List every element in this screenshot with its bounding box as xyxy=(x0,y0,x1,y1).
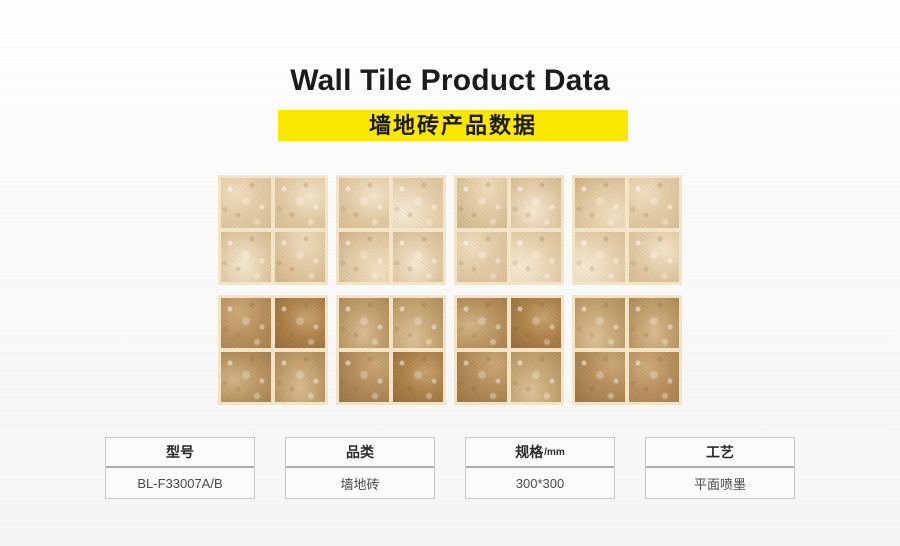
tile-product-image xyxy=(218,295,328,405)
tile-surface-swatch xyxy=(511,178,561,228)
tile-surface-swatch xyxy=(275,178,325,228)
tile-image-gallery xyxy=(218,175,684,407)
tile-product-image xyxy=(454,175,564,285)
tile-product-image xyxy=(336,175,446,285)
tile-surface-swatch xyxy=(457,178,507,228)
tile-surface-swatch xyxy=(575,352,625,402)
tile-surface-swatch xyxy=(221,178,271,228)
tile-surface-swatch xyxy=(575,298,625,348)
tile-surface-swatch xyxy=(575,178,625,228)
spec-header-label: 规格/mm xyxy=(466,438,614,468)
tile-surface-swatch xyxy=(511,352,561,402)
tile-surface-swatch xyxy=(457,352,507,402)
specification-table: 型号BL-F33007A/B品类墙地砖规格/mm300*300工艺平面喷墨 xyxy=(105,437,795,499)
spec-cell: 品类墙地砖 xyxy=(285,437,435,499)
tile-product-image xyxy=(572,175,682,285)
tile-surface-swatch xyxy=(393,178,443,228)
spec-header-unit: /mm xyxy=(544,447,565,458)
tile-surface-swatch xyxy=(511,298,561,348)
tile-product-image xyxy=(218,175,328,285)
spec-value: BL-F33007A/B xyxy=(106,468,254,498)
spec-value: 墙地砖 xyxy=(286,468,434,498)
spec-value: 平面喷墨 xyxy=(646,468,794,498)
tile-surface-swatch xyxy=(339,178,389,228)
spec-header-label: 工艺 xyxy=(646,438,794,468)
tile-surface-swatch xyxy=(575,232,625,282)
tile-product-image xyxy=(336,295,446,405)
spec-cell: 工艺平面喷墨 xyxy=(645,437,795,499)
tile-product-image xyxy=(572,295,682,405)
tile-surface-swatch xyxy=(275,232,325,282)
tile-surface-swatch xyxy=(393,352,443,402)
page-title-english: Wall Tile Product Data xyxy=(0,64,900,98)
spec-cell: 型号BL-F33007A/B xyxy=(105,437,255,499)
tile-surface-swatch xyxy=(221,298,271,348)
tile-surface-swatch xyxy=(511,232,561,282)
spec-value: 300*300 xyxy=(466,468,614,498)
tile-surface-swatch xyxy=(393,232,443,282)
product-data-page: Wall Tile Product Data 墙地砖产品数据 型号BL-F330… xyxy=(0,0,900,546)
tile-surface-swatch xyxy=(221,352,271,402)
page-title-chinese: 墙地砖产品数据 xyxy=(369,115,537,137)
page-title-chinese-highlight: 墙地砖产品数据 xyxy=(278,110,628,141)
tile-surface-swatch xyxy=(457,298,507,348)
tile-surface-swatch xyxy=(629,178,679,228)
spec-header-label: 品类 xyxy=(286,438,434,468)
tile-surface-swatch xyxy=(457,232,507,282)
tile-surface-swatch xyxy=(339,352,389,402)
tile-surface-swatch xyxy=(629,232,679,282)
tile-surface-swatch xyxy=(629,352,679,402)
tile-surface-swatch xyxy=(629,298,679,348)
spec-cell: 规格/mm300*300 xyxy=(465,437,615,499)
tile-surface-swatch xyxy=(275,352,325,402)
tile-surface-swatch xyxy=(275,298,325,348)
tile-surface-swatch xyxy=(221,232,271,282)
tile-surface-swatch xyxy=(393,298,443,348)
tile-product-image xyxy=(454,295,564,405)
tile-surface-swatch xyxy=(339,232,389,282)
spec-header-label: 型号 xyxy=(106,438,254,468)
tile-surface-swatch xyxy=(339,298,389,348)
